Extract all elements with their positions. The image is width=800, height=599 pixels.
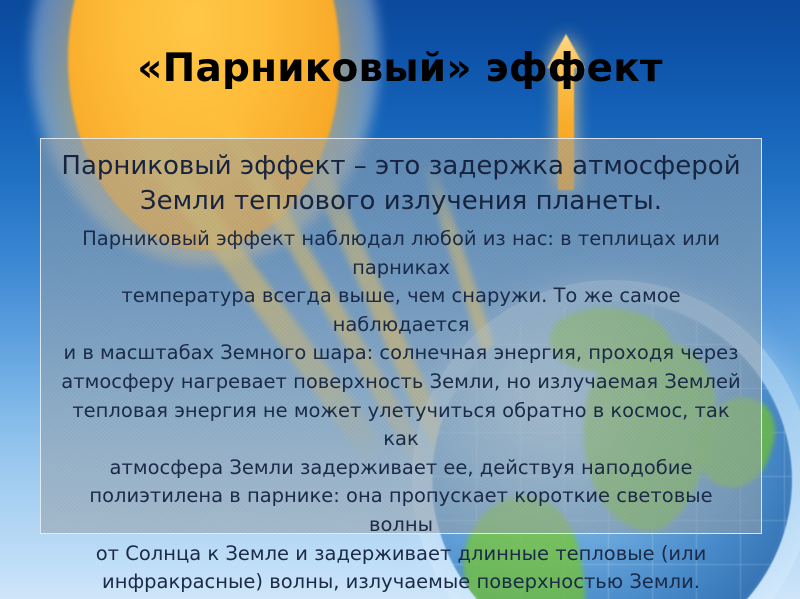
definition-heading: Парниковый эффект – это задержка атмосфе… — [55, 149, 747, 219]
definition-line: Земли теплового излучения планеты. — [140, 186, 662, 216]
body-line: Парниковый эффект наблюдал любой из нас:… — [55, 225, 747, 282]
body-line: тепловая энергия не может улетучиться об… — [55, 397, 747, 454]
body-line: атмосферу нагревает поверхность Земли, н… — [55, 368, 747, 397]
body-line: и в масштабах Земного шара: солнечная эн… — [55, 339, 747, 368]
page-title: «Парниковый» эффект — [0, 46, 800, 91]
body-paragraph: Парниковый эффект наблюдал любой из нас:… — [55, 225, 747, 599]
definition-line: Парниковый эффект – это задержка атмосфе… — [61, 151, 740, 181]
content-panel: Парниковый эффект – это задержка атмосфе… — [40, 138, 762, 534]
body-line: полиэтилена в парнике: она пропускает ко… — [55, 482, 747, 539]
body-line: инфракрасные) волны, излучаемые поверхно… — [55, 568, 747, 597]
body-line: атмосфера Земли задерживает ее, действуя… — [55, 454, 747, 483]
body-line: от Солнца к Земле и задерживает длинные … — [55, 540, 747, 569]
body-line: температура всегда выше, чем снаружи. То… — [55, 282, 747, 339]
slide: «Парниковый» эффект Парниковый эффект – … — [0, 0, 800, 599]
